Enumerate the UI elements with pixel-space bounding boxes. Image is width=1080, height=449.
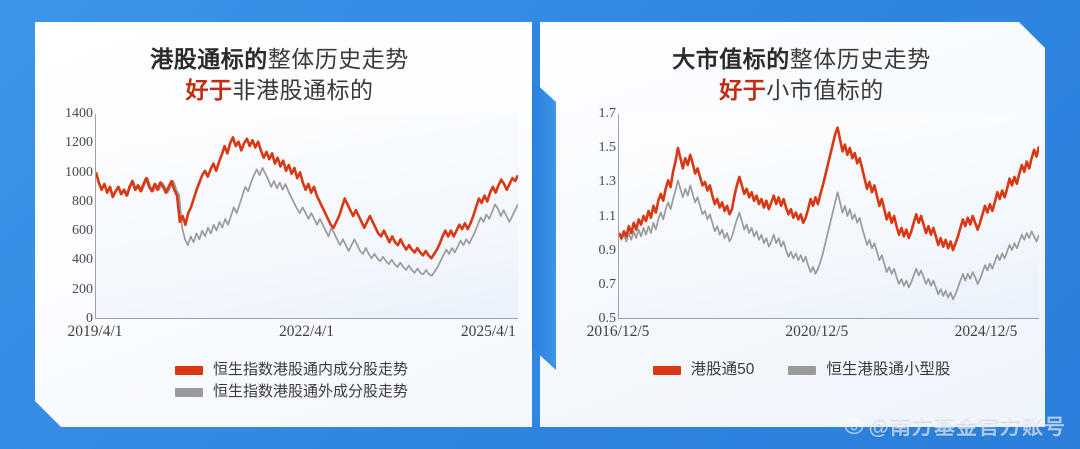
right-plot-wrap: 1.71.51.31.10.90.70.5: [558, 114, 1045, 319]
left-title-bold: 港股通标的: [150, 46, 268, 72]
r-y-tick: 0.9: [599, 243, 617, 259]
r-x-tick: 2016/12/5: [587, 323, 650, 341]
right-plot-area: [618, 114, 1039, 319]
l-y-tick: 800: [72, 194, 93, 210]
legend-item: 恒生港股通小型股: [788, 359, 950, 381]
l-y-tick: 600: [72, 223, 93, 239]
right-legend: 港股通50恒生港股通小型股: [558, 359, 1045, 381]
l-y-tick: 200: [72, 282, 93, 298]
watermark: @南方基金官方账号: [843, 411, 1066, 441]
right-chart-title: 大市值标的整体历史走势 好于小市值标的: [558, 44, 1045, 106]
r-y-tick: 0.7: [599, 277, 617, 293]
l-y-tick: 1400: [65, 106, 93, 122]
l-series-line: [96, 137, 518, 258]
l-y-tick: 400: [72, 252, 93, 268]
r-x-tick: 2020/12/5: [785, 323, 848, 341]
legend-item: 恒生指数港股通内成分股走势: [175, 359, 524, 381]
legend-swatch: [175, 366, 203, 375]
left-title-highlight: 好于: [186, 77, 233, 103]
right-title-rest: 整体历史走势: [790, 46, 931, 72]
legend-swatch: [788, 366, 816, 375]
right-x-axis: 2016/12/52020/12/52024/12/5: [558, 321, 1045, 347]
left-plot-area: [95, 114, 518, 319]
right-y-axis: 1.71.51.31.10.90.70.5: [558, 114, 616, 319]
left-legend: 恒生指数港股通内成分股走势恒生指数港股通外成分股走势: [35, 359, 524, 403]
legend-label: 恒生指数港股通内成分股走势: [213, 359, 408, 381]
left-x-axis: 2019/4/12022/4/12025/4/1: [35, 321, 524, 347]
legend-label: 恒生港股通小型股: [826, 359, 950, 381]
l-y-tick: 1000: [65, 165, 93, 181]
r-y-tick: 1.5: [599, 140, 617, 156]
left-chart-section: 港股通标的整体历史走势 好于非港股通标的 1400120010008006004…: [35, 22, 524, 427]
right-line-chart: [619, 114, 1039, 318]
left-y-axis: 1400120010008006004002000: [35, 114, 93, 319]
right-chart-section: 大市值标的整体历史走势 好于小市值标的 1.71.51.31.10.90.70.…: [558, 22, 1045, 427]
right-title-highlight: 好于: [719, 77, 766, 103]
watermark-text: @南方基金官方账号: [869, 411, 1066, 441]
right-title-bold: 大市值标的: [672, 46, 790, 72]
legend-label: 港股通50: [691, 359, 755, 381]
right-title-tail: 小市值标的: [766, 77, 884, 103]
r-y-tick: 1.7: [599, 106, 617, 122]
l-x-tick: 2019/4/1: [67, 323, 122, 341]
r-series-line: [619, 128, 1039, 250]
weibo-at-icon: [843, 415, 865, 437]
left-plot-wrap: 1400120010008006004002000: [35, 114, 524, 319]
left-title-tail: 非港股通标的: [233, 77, 374, 103]
legend-swatch: [653, 366, 681, 375]
r-x-tick: 2024/12/5: [955, 323, 1018, 341]
legend-item: 港股通50: [653, 359, 755, 381]
left-line-chart: [96, 114, 518, 318]
legend-swatch: [175, 388, 203, 397]
legend-item: 恒生指数港股通外成分股走势: [175, 381, 524, 403]
r-series-line: [619, 180, 1039, 299]
r-y-tick: 1.3: [599, 174, 617, 190]
l-x-tick: 2025/4/1: [461, 323, 516, 341]
l-y-tick: 1200: [65, 135, 93, 151]
legend-label: 恒生指数港股通外成分股走势: [213, 381, 408, 403]
left-chart-title: 港股通标的整体历史走势 好于非港股通标的: [35, 44, 524, 106]
r-y-tick: 1.1: [599, 209, 617, 225]
left-title-rest: 整体历史走势: [268, 46, 409, 72]
l-x-tick: 2022/4/1: [279, 323, 334, 341]
